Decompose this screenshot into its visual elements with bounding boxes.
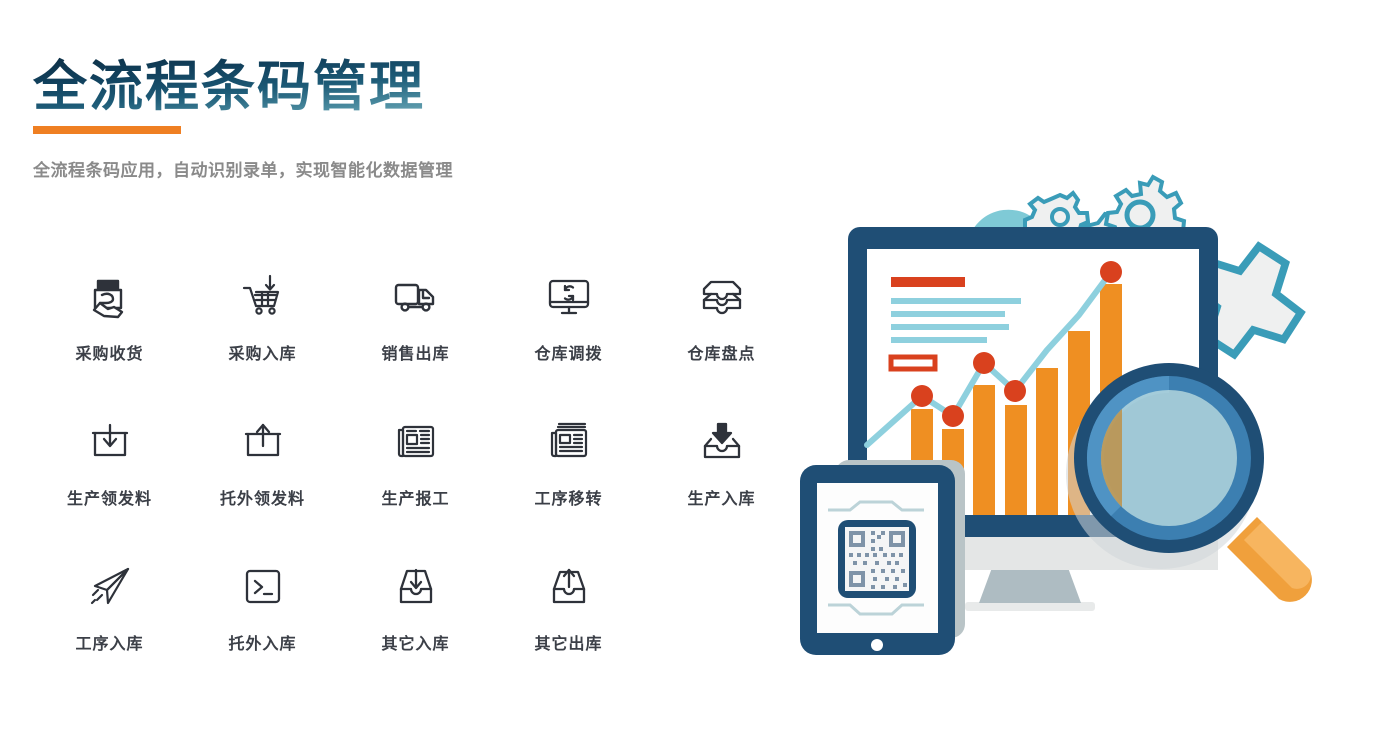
feature-label: 仓库盘点	[687, 340, 755, 364]
page-root: 全流程条码管理 全流程条码应用，自动识别录单，实现智能化数据管理 采购收货	[0, 0, 1378, 755]
feature-item-warehouse-stocktake[interactable]: 仓库盘点	[645, 268, 798, 413]
delivery-truck-icon	[388, 268, 444, 326]
qr-code	[838, 520, 916, 598]
newspaper-icon	[388, 413, 444, 471]
feature-item-production-instock[interactable]: 生产入库	[645, 413, 798, 558]
inbox-down-arrow-icon	[694, 413, 750, 471]
feature-label: 生产入库	[687, 485, 755, 509]
feature-icon-grid: 采购收货 采购入库	[33, 268, 798, 703]
feature-label: 工序入库	[75, 630, 143, 654]
stacked-trays-icon	[694, 268, 750, 326]
title-underline-accent	[33, 126, 181, 134]
feature-item-process-transfer[interactable]: 工序移转	[492, 413, 645, 558]
outbox-up-icon	[541, 558, 597, 616]
feature-label: 采购收货	[75, 340, 143, 364]
feature-label: 销售出库	[381, 340, 449, 364]
feature-label: 托外入库	[228, 630, 296, 654]
barcode-analytics-illustration	[795, 165, 1375, 665]
feature-item-process-instock[interactable]: 工序入库	[33, 558, 186, 703]
feature-label: 托外领发料	[220, 485, 305, 509]
box-up-arrow-icon	[235, 413, 291, 471]
box-down-arrow-icon	[82, 413, 138, 471]
feature-item-warehouse-transfer[interactable]: 仓库调拨	[492, 268, 645, 413]
inbox-in-icon	[388, 558, 444, 616]
feature-label: 其它入库	[381, 630, 449, 654]
page-header: 全流程条码管理 全流程条码应用，自动识别录单，实现智能化数据管理	[33, 55, 793, 181]
feature-item-production-issue[interactable]: 生产领发料	[33, 413, 186, 558]
monitor-refresh-icon	[541, 268, 597, 326]
paper-plane-icon	[82, 558, 138, 616]
page-subtitle: 全流程条码应用，自动识别录单，实现智能化数据管理	[33, 156, 793, 181]
page-title: 全流程条码管理	[33, 55, 425, 120]
tablet-device	[800, 460, 965, 655]
feature-item-purchase-instock[interactable]: 采购入库	[186, 268, 339, 413]
feature-label: 生产报工	[381, 485, 449, 509]
feature-label: 工序移转	[534, 485, 602, 509]
feature-item-production-report[interactable]: 生产报工	[339, 413, 492, 558]
hand-package-icon	[82, 268, 138, 326]
cart-down-arrow-icon	[235, 268, 291, 326]
feature-item-sales-outbound[interactable]: 销售出库	[339, 268, 492, 413]
feature-item-purchase-receipt[interactable]: 采购收货	[33, 268, 186, 413]
feature-item-other-instock[interactable]: 其它入库	[339, 558, 492, 703]
feature-item-outsource-instock[interactable]: 托外入库	[186, 558, 339, 703]
newspaper-stack-icon	[541, 413, 597, 471]
feature-label: 生产领发料	[67, 485, 152, 509]
feature-label: 仓库调拨	[534, 340, 602, 364]
terminal-icon	[235, 558, 291, 616]
feature-item-outsource-issue[interactable]: 托外领发料	[186, 413, 339, 558]
feature-label: 采购入库	[228, 340, 296, 364]
feature-label: 其它出库	[534, 630, 602, 654]
feature-item-other-outbound[interactable]: 其它出库	[492, 558, 645, 703]
